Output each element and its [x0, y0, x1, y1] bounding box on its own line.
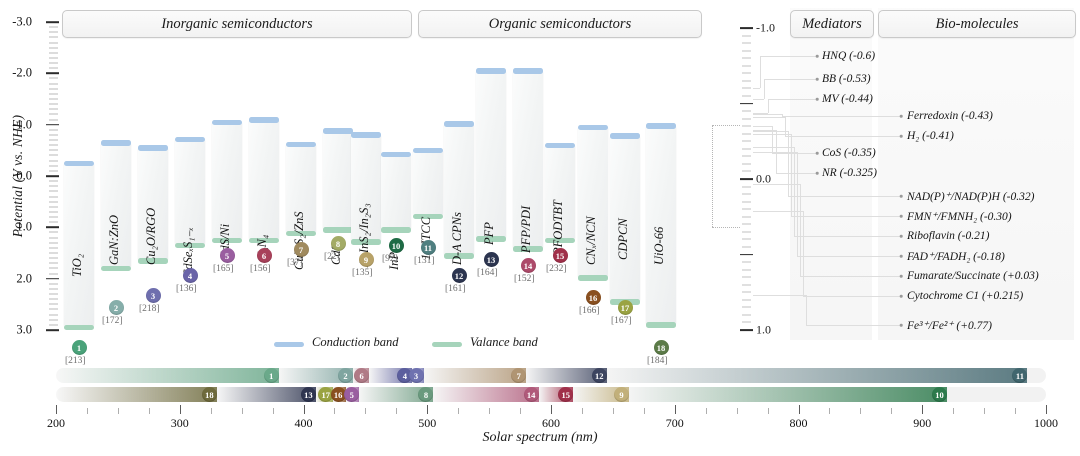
biomolecule-leader-v	[800, 184, 801, 276]
spectrum-index-badge[interactable]: 18	[202, 387, 217, 402]
y-tick-minor	[49, 211, 58, 212]
spectrum-index-badge[interactable]: 14	[524, 387, 539, 402]
y-tick-minor	[49, 288, 58, 289]
mediator-tick-minor	[742, 186, 751, 187]
bar-reference-label: [232]	[546, 264, 567, 274]
mediator-axis-spine	[752, 28, 753, 330]
conduction-band-marker	[646, 123, 676, 129]
legend-valence-swatch	[432, 342, 462, 347]
y-tick-minor	[49, 170, 58, 171]
mediator-leader-h2	[760, 56, 816, 57]
spectrum-tick-minor	[273, 408, 274, 414]
y-tick-minor	[49, 93, 58, 94]
spectrum-tick-minor	[458, 408, 459, 414]
mediator-leader-h	[753, 99, 764, 100]
biomolecule-label: Ferredoxin (-0.43)	[907, 110, 993, 122]
y-tick-minor	[49, 222, 58, 223]
biomolecule-leader-h2	[794, 236, 900, 237]
mediator-tick-minor	[742, 216, 751, 217]
spectrum-tick-minor	[891, 408, 892, 414]
y-tick-minor	[49, 294, 58, 295]
conduction-band-marker	[286, 142, 316, 148]
bar-material-label: CNₓ/NCN	[584, 216, 599, 265]
legend-valence-label: Valance band	[470, 335, 538, 350]
mediator-tick-minor	[742, 246, 751, 247]
conduction-band-marker	[513, 68, 543, 74]
bar-reference-label: [92]	[382, 254, 398, 264]
spectrum-index-badge[interactable]: 9	[614, 387, 629, 402]
spectrum-tick-major	[551, 405, 552, 414]
spectrum-row-upper	[56, 368, 1046, 383]
semiconductor-bar[interactable]	[646, 126, 676, 325]
header-organic: Organic semiconductors	[418, 10, 702, 38]
biomolecule-leader-h2	[803, 296, 900, 297]
conduction-band-marker	[476, 68, 506, 74]
valence-band-marker	[646, 322, 676, 328]
mediator-tick-minor	[742, 118, 751, 119]
bar-material-label: GaN:ZnO	[107, 215, 122, 265]
conduction-band-marker	[444, 121, 474, 127]
bar-reference-label: [135]	[352, 268, 373, 278]
y-tick-minor	[49, 314, 58, 315]
y-tick-minor	[49, 155, 58, 156]
y-tick-major	[46, 278, 59, 280]
mediator-tick-minor	[742, 262, 751, 263]
semiconductor-bar[interactable]	[413, 150, 443, 216]
mediator-tick-minor	[742, 171, 751, 172]
biomolecule-leader-v	[803, 211, 804, 296]
spectrum-tick-minor	[242, 408, 243, 414]
valence-band-marker	[323, 227, 353, 233]
y-tick-minor	[49, 47, 58, 48]
spectrum-tick-major	[799, 405, 800, 414]
bar-index-badge[interactable]: 3	[146, 288, 161, 303]
biomolecule-leader-v	[794, 147, 795, 236]
mediator-label: HNQ (-0.6)	[822, 50, 875, 62]
biomolecule-leader-h	[753, 295, 806, 296]
spectrum-segment	[607, 368, 1028, 383]
spectrum-tick-minor	[768, 408, 769, 414]
spectrum-index-badge[interactable]: 1	[264, 368, 279, 383]
y-tick-major	[46, 124, 59, 126]
y-tick-minor	[49, 299, 58, 300]
biomolecule-label: FMN⁺/FMNH₂ (-0.30)	[907, 209, 1012, 223]
biomolecule-dot	[900, 295, 903, 298]
bar-material-label: D-A CPNs	[450, 212, 465, 265]
mediator-tick-minor	[742, 50, 751, 51]
mediator-tick-minor	[742, 73, 751, 74]
valence-band-marker	[101, 266, 131, 272]
biomolecule-label: FAD⁺/FADH₂ (-0.18)	[907, 249, 1005, 263]
y-tick-minor	[49, 134, 58, 135]
mediator-tick-minor	[742, 209, 751, 210]
mediator-dot	[816, 98, 819, 101]
spectrum-segment	[629, 387, 947, 402]
valence-band-marker	[64, 325, 94, 331]
conduction-band-marker	[175, 137, 205, 143]
bar-reference-label: [167]	[611, 316, 632, 326]
y-tick-label: 0.0	[0, 169, 32, 184]
biomolecule-label: NAD(P)⁺/NAD(P)H (-0.32)	[907, 189, 1034, 203]
y-tick-minor	[49, 78, 58, 79]
y-tick-minor	[49, 217, 58, 218]
y-tick-minor	[49, 88, 58, 89]
biomolecule-dot	[900, 324, 903, 327]
mediator-tick-minor	[742, 231, 751, 232]
conduction-band-marker	[249, 117, 279, 123]
y-tick-minor	[49, 68, 58, 69]
conduction-band-marker	[323, 128, 353, 134]
biomolecule-dot	[900, 135, 903, 138]
mediator-tick-minor	[742, 194, 751, 195]
mediator-dot	[816, 172, 819, 175]
y-tick-minor	[49, 27, 58, 28]
header-biomolecules: Bio-molecules	[878, 10, 1076, 38]
spectrum-index-badge[interactable]: 3	[409, 368, 424, 383]
y-tick-minor	[49, 237, 58, 238]
spectrum-tick-label: 900	[913, 416, 931, 431]
y-tick-minor	[49, 196, 58, 197]
spectrum-tick-minor	[613, 408, 614, 414]
spectrum-tick-label: 800	[790, 416, 808, 431]
mediator-tick-minor	[742, 80, 751, 81]
mediator-tick-minor	[742, 239, 751, 240]
spectrum-tick-minor	[860, 408, 861, 414]
mediator-tick-minor	[742, 133, 751, 134]
biomolecule-dot	[900, 215, 903, 218]
biomolecule-leader-h2	[785, 136, 900, 137]
bar-reference-label: [184]	[647, 356, 668, 366]
spectrum-index-badge[interactable]: 6	[354, 368, 369, 383]
spectrum-segment	[433, 387, 538, 402]
biomolecule-leader-h2	[806, 325, 900, 326]
biomolecule-leader-h	[753, 147, 794, 148]
spectrum-tick-major	[56, 405, 57, 414]
spectrum-tick-label: 200	[47, 416, 65, 431]
header-mediators-label: Mediators	[802, 16, 862, 33]
semiconductor-bar[interactable]	[249, 120, 279, 241]
conduction-band-marker	[351, 132, 381, 138]
semiconductor-bar[interactable]	[476, 71, 506, 239]
y-tick-minor	[49, 104, 58, 105]
biomolecule-dot	[900, 195, 903, 198]
valence-band-marker	[381, 227, 411, 233]
header-inorganic-label: Inorganic semiconductors	[161, 16, 312, 33]
y-tick-major	[46, 175, 59, 177]
y-tick-major	[46, 73, 59, 75]
bar-index-badge[interactable]: 13	[484, 252, 499, 267]
mediator-tick-minor	[742, 292, 751, 293]
y-tick-minor	[49, 83, 58, 84]
y-tick-minor	[49, 191, 58, 192]
y-tick-minor	[49, 42, 58, 43]
bar-index-badge[interactable]: 15	[553, 248, 568, 263]
biomolecule-leader-h	[753, 184, 800, 185]
spectrum-tick-minor	[87, 408, 88, 414]
semiconductor-bar[interactable]	[323, 131, 353, 230]
spectrum-tick-minor	[520, 408, 521, 414]
conduction-band-marker	[101, 140, 131, 146]
mediator-label: MV (-0.44)	[822, 93, 873, 105]
bar-material-label: PFP/PDI	[519, 206, 534, 253]
y-tick-minor	[49, 140, 58, 141]
spectrum-tick-label: 1000	[1034, 416, 1058, 431]
legend-conduction-swatch	[274, 342, 304, 347]
header-organic-label: Organic semiconductors	[489, 16, 631, 33]
y-tick-minor	[49, 129, 58, 130]
mediator-leader-h	[753, 88, 760, 89]
biomolecule-label: Riboflavin (-0.21)	[907, 230, 989, 242]
mediator-leader-v	[768, 99, 769, 113]
valence-band-marker	[578, 275, 608, 281]
header-biomolecules-label: Bio-molecules	[936, 16, 1019, 33]
mediator-dot	[816, 55, 819, 58]
semiconductor-bar[interactable]	[381, 154, 411, 229]
mediator-leader-h2	[764, 79, 816, 80]
y-tick-minor	[49, 253, 58, 254]
mediator-tick-minor	[742, 201, 751, 202]
spectrum-tick-minor	[737, 408, 738, 414]
mediator-tick-label: -1.0	[756, 21, 775, 36]
spectrum-tick-minor	[829, 408, 830, 414]
bar-index-badge[interactable]: 2	[109, 300, 124, 315]
biomolecule-label: Fumarate/Succinate (+0.03)	[907, 270, 1039, 282]
bar-index-badge[interactable]: 17	[618, 300, 633, 315]
mediator-tick-minor	[742, 224, 751, 225]
y-tick-minor	[49, 319, 58, 320]
y-tick-minor	[49, 268, 58, 269]
spectrum-index-badge[interactable]: 13	[301, 387, 316, 402]
axis-link-dotted-vertical	[712, 125, 713, 228]
y-tick-minor	[49, 201, 58, 202]
mediator-tick-minor	[742, 314, 751, 315]
spectrum-tick-major	[922, 405, 923, 414]
y-axis: -3.0-2.0-1.00.01.02.03.0	[32, 0, 58, 456]
conduction-band-marker	[578, 125, 608, 131]
y-tick-minor	[49, 324, 58, 325]
y-tick-minor	[49, 232, 58, 233]
conduction-band-marker	[64, 161, 94, 167]
y-tick-minor	[49, 242, 58, 243]
y-tick-minor	[49, 119, 58, 120]
bar-material-label: TiO₂	[70, 254, 85, 277]
legend-conduction-label: Conduction band	[312, 335, 398, 350]
mediator-leader-v	[760, 56, 761, 88]
mediator-leader-h	[753, 126, 772, 127]
y-tick-minor	[49, 99, 58, 100]
mediator-leader-v	[764, 79, 765, 99]
biomolecule-leader-h2	[788, 196, 900, 197]
y-tick-minor	[49, 206, 58, 207]
axis-link-dotted	[712, 227, 740, 228]
y-tick-minor	[49, 247, 58, 248]
bar-reference-label: [165]	[213, 264, 234, 274]
bar-reference-label: [136]	[176, 284, 197, 294]
spectrum-tick-major	[1046, 405, 1047, 414]
biomolecule-leader-h	[753, 211, 803, 212]
spectrum-tick-minor	[953, 408, 954, 414]
y-tick-minor	[49, 32, 58, 33]
spectrum-tick-minor	[984, 408, 985, 414]
y-tick-label: -1.0	[0, 117, 32, 132]
biomolecule-leader-v	[791, 134, 792, 216]
mediator-tick-minor	[742, 277, 751, 278]
bar-index-badge[interactable]: 18	[654, 340, 669, 355]
y-tick-minor	[49, 258, 58, 259]
header-mediators: Mediators	[790, 10, 874, 38]
mediator-tick-minor	[742, 307, 751, 308]
spectrum-tick-minor	[706, 408, 707, 414]
conduction-band-marker	[212, 120, 242, 126]
bar-reference-label: [37]	[287, 258, 303, 268]
mediator-leader-h2	[768, 99, 816, 100]
bar-material-label: UiO-66	[652, 227, 667, 265]
spectrum-tick-major	[675, 405, 676, 414]
bar-reference-label: [218]	[139, 304, 160, 314]
mediator-tick-minor	[742, 163, 751, 164]
mediator-tick-label: 1.0	[756, 323, 771, 338]
biomolecule-leader-h	[753, 117, 785, 118]
biomolecule-leader-h	[753, 134, 791, 135]
spectrum-tick-label: 700	[666, 416, 684, 431]
mediator-tick-minor	[742, 148, 751, 149]
y-tick-minor	[49, 114, 58, 115]
y-tick-major	[46, 329, 59, 331]
y-tick-minor	[49, 63, 58, 64]
conduction-band-marker	[138, 145, 168, 151]
biomolecule-dot	[900, 275, 903, 278]
biomolecule-leader-v	[797, 152, 798, 256]
y-tick-minor	[49, 273, 58, 274]
spectrum-tick-minor	[489, 408, 490, 414]
bar-material-label: Cu₂O/RGO	[144, 208, 159, 265]
spectrum-tick-minor	[365, 408, 366, 414]
y-tick-minor	[49, 304, 58, 305]
spectrum-tick-minor	[334, 408, 335, 414]
bar-index-badge[interactable]: 11	[421, 240, 436, 255]
biomolecule-label: Fe³⁺/Fe²⁺ (+0.77)	[907, 318, 992, 332]
y-tick-minor	[49, 283, 58, 284]
y-tick-minor	[49, 309, 58, 310]
spectrum-tick-label: 400	[295, 416, 313, 431]
mediator-tick-minor	[742, 322, 751, 323]
mediator-tick-minor	[742, 141, 751, 142]
bar-index-badge[interactable]: 1	[72, 340, 87, 355]
mediator-tick-minor	[742, 126, 751, 127]
solar-spectrum-title: Solar spectrum (nm)	[0, 430, 1080, 446]
y-tick-label: -3.0	[0, 15, 32, 30]
spectrum-tick-minor	[582, 408, 583, 414]
bar-index-badge[interactable]: 8	[331, 236, 346, 251]
biomolecule-leader-h2	[797, 256, 900, 257]
spectrum-tick-major	[304, 405, 305, 414]
biomolecule-dot	[900, 255, 903, 258]
figure-canvas: Inorganic semiconductors Organic semicon…	[0, 0, 1080, 456]
mediator-tick-minor	[742, 111, 751, 112]
y-tick-minor	[49, 165, 58, 166]
y-tick-minor	[49, 150, 58, 151]
y-tick-minor	[49, 109, 58, 110]
y-tick-minor	[49, 145, 58, 146]
bar-index-badge[interactable]: 9	[359, 252, 374, 267]
biomolecule-label: Cytochrome C1 (+0.215)	[907, 290, 1023, 302]
mediator-tick-minor	[742, 299, 751, 300]
bar-material-label: PFP	[482, 222, 497, 245]
bar-reference-label: [213]	[65, 356, 86, 366]
y-tick-major	[46, 227, 59, 229]
bar-index-badge[interactable]: 4	[183, 268, 198, 283]
spectrum-segment	[56, 368, 279, 383]
y-tick-minor	[49, 52, 58, 53]
bar-reference-label: [152]	[514, 274, 535, 284]
semiconductor-bar[interactable]	[64, 163, 94, 327]
biomolecule-leader-h2	[800, 276, 900, 277]
bar-index-badge[interactable]: 14	[521, 258, 536, 273]
mediator-dot	[816, 78, 819, 81]
spectrum-tick-minor	[149, 408, 150, 414]
biomolecule-leader-v	[788, 131, 789, 196]
mediator-label: CoS (-0.35)	[822, 147, 876, 159]
spectrum-tick-minor	[118, 408, 119, 414]
bar-reference-label: [161]	[445, 284, 466, 294]
mediator-tick-minor	[742, 95, 751, 96]
bar-index-badge[interactable]: 6	[257, 248, 272, 263]
biomolecule-dot	[900, 235, 903, 238]
spectrum-tick-major	[427, 405, 428, 414]
mediator-label: BB (-0.53)	[822, 73, 871, 85]
semiconductor-bar[interactable]	[212, 122, 242, 240]
bar-reference-label: [131]	[414, 256, 435, 266]
mediator-tick-minor	[742, 65, 751, 66]
spectrum-segment	[56, 387, 217, 402]
biomolecule-leader-h2	[782, 116, 900, 117]
spectrum-tick-minor	[644, 408, 645, 414]
mediator-tick-minor	[742, 156, 751, 157]
bar-reference-label: [166]	[579, 306, 600, 316]
mediator-leader-h2	[776, 173, 816, 174]
spectrum-index-badge[interactable]: 10	[932, 387, 947, 402]
spectrum-tick-minor	[396, 408, 397, 414]
y-tick-minor	[49, 181, 58, 182]
biomolecule-dot	[900, 115, 903, 118]
mediator-tick-minor	[742, 284, 751, 285]
conduction-band-marker	[610, 133, 640, 139]
y-tick-label: 2.0	[0, 271, 32, 286]
bar-reference-label: [164]	[477, 268, 498, 278]
bar-reference-label: [156]	[250, 264, 271, 274]
biomolecule-leader-h2	[791, 216, 900, 217]
biomolecule-leader-h	[753, 152, 797, 153]
bar-reference-label: [22]	[324, 252, 340, 262]
bar-index-badge[interactable]: 7	[294, 242, 309, 257]
y-tick-label: 1.0	[0, 220, 32, 235]
spectrum-index-badge[interactable]: 12	[592, 368, 607, 383]
bar-index-badge[interactable]: 5	[220, 248, 235, 263]
biomolecule-leader-v	[806, 295, 807, 325]
bar-index-badge[interactable]: 16	[586, 290, 601, 305]
bar-material-label: CDPCN	[616, 218, 631, 260]
mediator-tick-minor	[742, 35, 751, 36]
bar-index-badge[interactable]: 12	[452, 268, 467, 283]
y-tick-minor	[49, 160, 58, 161]
bar-index-badge[interactable]: 10	[389, 238, 404, 253]
spectrum-tick-label: 500	[418, 416, 436, 431]
spectrum-index-badge[interactable]: 2	[338, 368, 353, 383]
spectrum-tick-label: 600	[542, 416, 560, 431]
spectrum-tick-major	[180, 405, 181, 414]
spectrum-tick-minor	[211, 408, 212, 414]
y-tick-minor	[49, 57, 58, 58]
